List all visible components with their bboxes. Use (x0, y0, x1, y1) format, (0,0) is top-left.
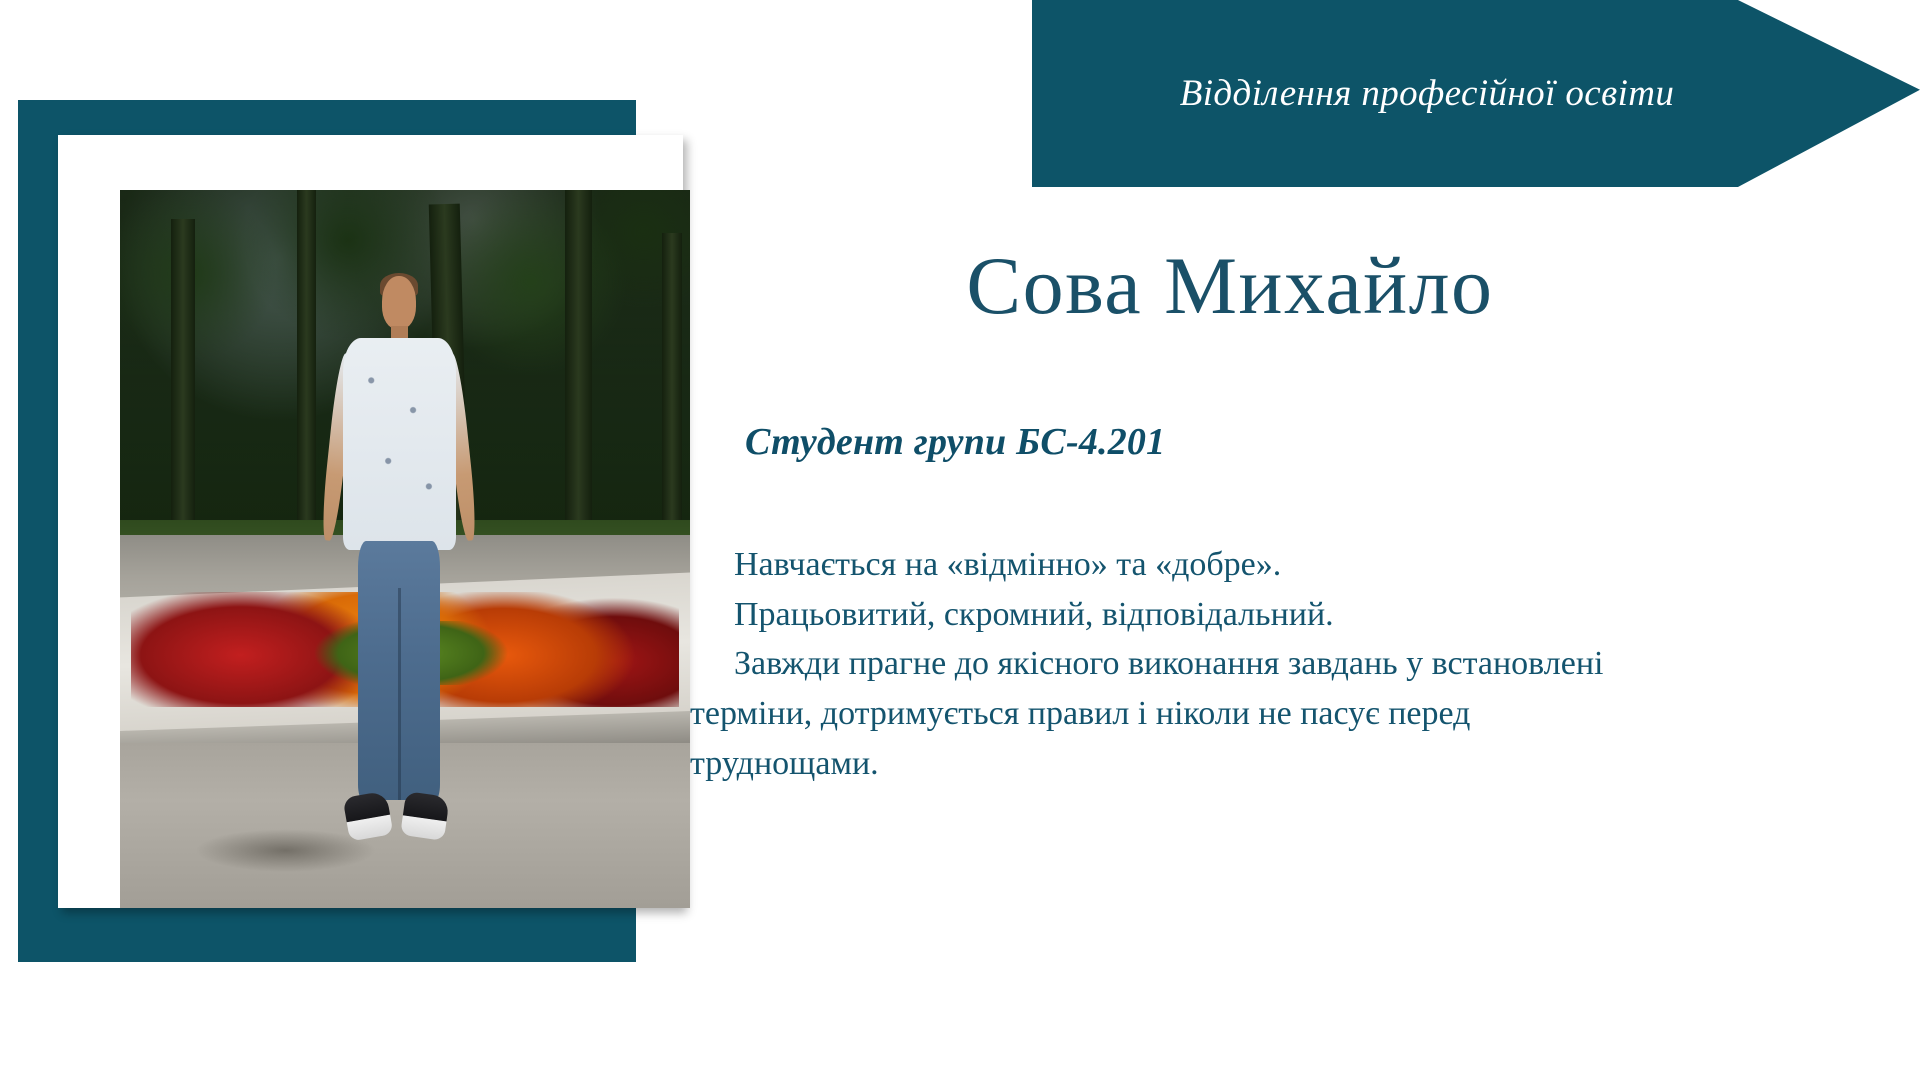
description-line: Завжди прагне до якісного виконання завд… (690, 639, 1860, 689)
student-description: Навчається на «відмінно» та «добре». Пра… (690, 540, 1860, 788)
description-line: терміни, дотримується правил і ніколи не… (690, 689, 1860, 739)
figure-jeans (358, 541, 440, 800)
description-line: Навчається на «відмінно» та «добре». (690, 540, 1860, 590)
slide-root: Відділення професійної освіти (0, 0, 1920, 1080)
page-title: Сова Михайло (700, 245, 1760, 327)
student-group-subtitle: Студент групи БС-4.201 (745, 420, 1165, 464)
photo-card (58, 135, 683, 908)
figure-head (382, 276, 416, 329)
photo-scene (120, 190, 690, 908)
photo-block (18, 100, 636, 962)
photo-student-figure (314, 276, 485, 865)
description-line: Працьовитий, скромний, відповідальний. (690, 590, 1860, 640)
figure-shoe-right (400, 791, 450, 841)
figure-shirt (343, 338, 456, 550)
student-photo (120, 190, 690, 908)
banner-title: Відділення професійної освіти (1032, 0, 1752, 187)
header-banner: Відділення професійної освіти (1032, 0, 1920, 187)
description-line: труднощами. (690, 739, 1860, 789)
